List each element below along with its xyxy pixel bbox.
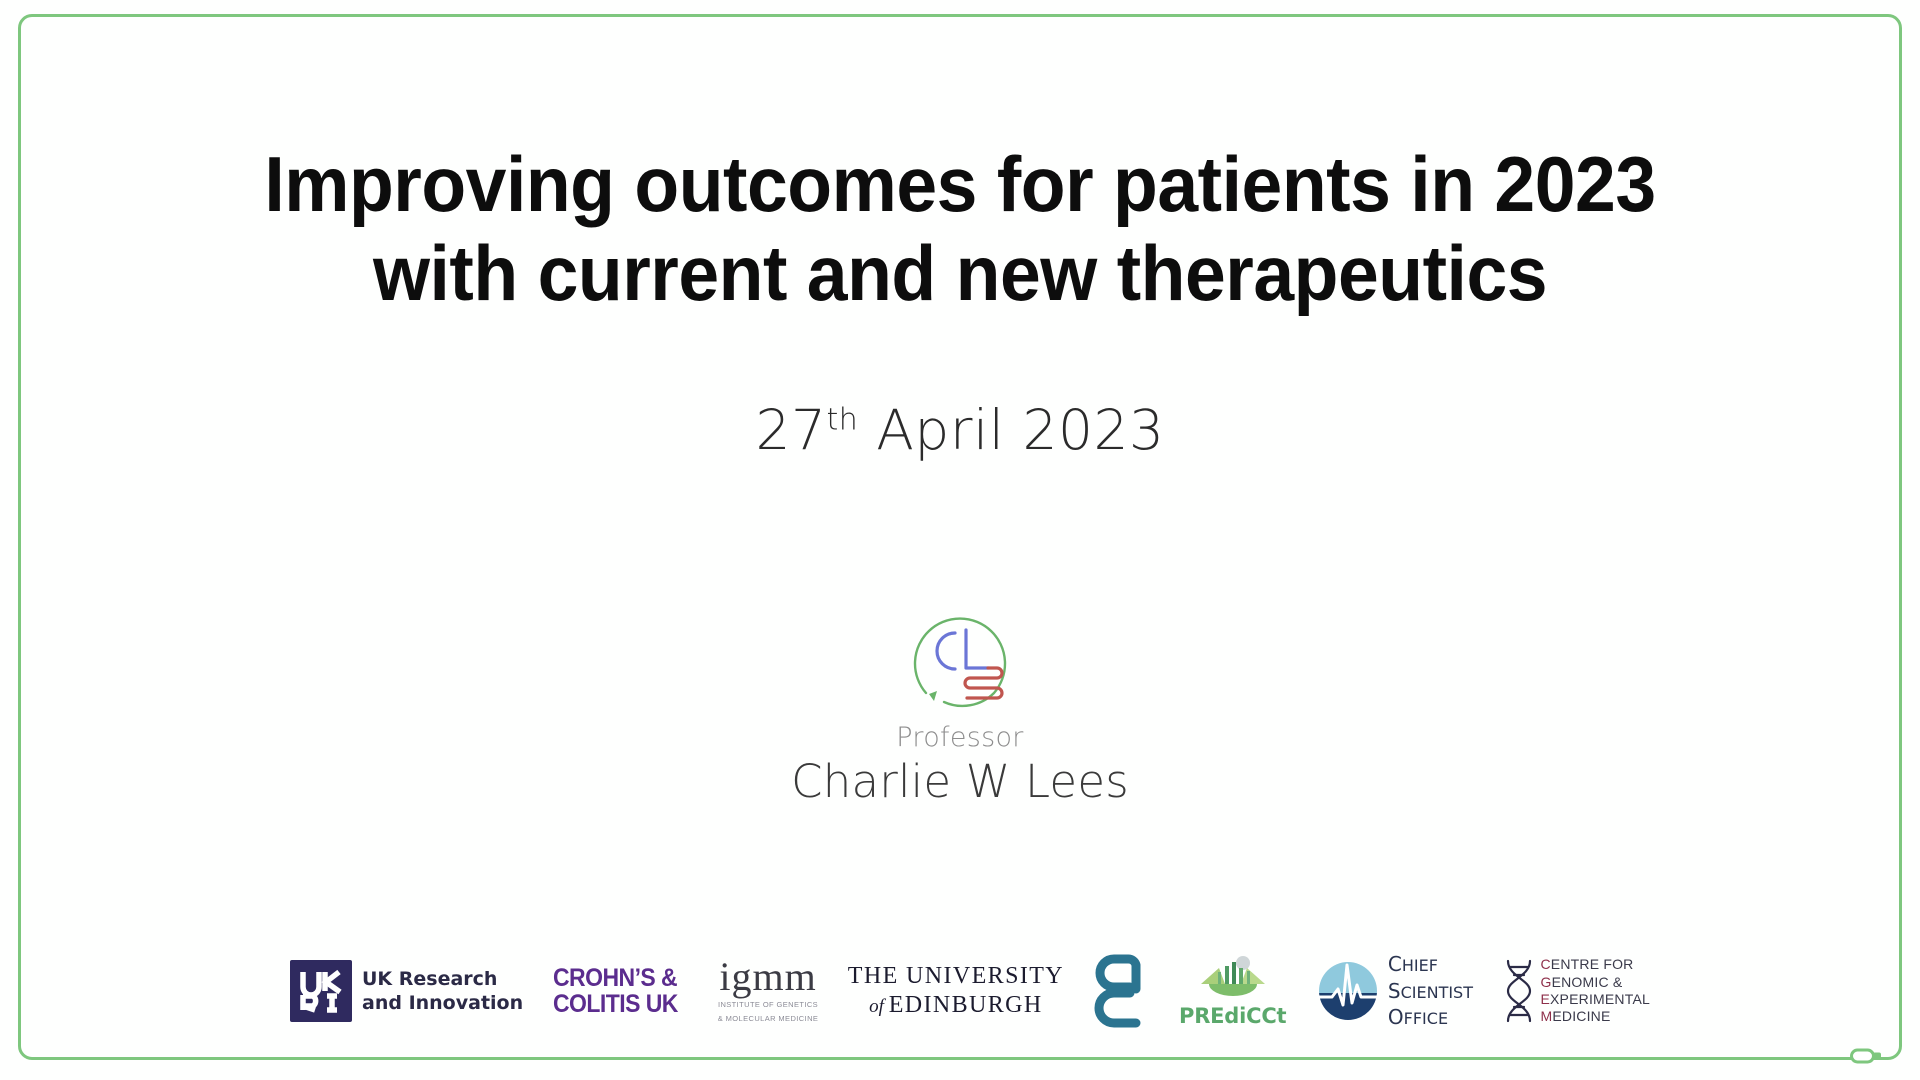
date-ordinal-suffix: th [827, 403, 859, 438]
pill-capsule-icon [1850, 1046, 1884, 1066]
slide-date: 27th April 2023 [0, 398, 1920, 462]
ukri-mark-icon [290, 960, 352, 1022]
presenter-block: Professor Charlie W Lees [0, 590, 1920, 808]
uoe-line-1: THE UNIVERSITY [848, 962, 1064, 991]
igmm-subtitle-1: INSTITUTE OF GENETICS [718, 1000, 819, 1010]
cso-line-1-cap: C [1388, 952, 1402, 976]
logo-crohns-colitis-uk: CROHN’S & COLITIS UK [553, 945, 689, 1037]
igmm-subtitle-2: & MOLECULAR MEDICINE [718, 1014, 819, 1024]
ccuk-wordmark: CROHN’S & COLITIS UK [553, 965, 678, 1017]
cgem-line-4: EDICINE [1552, 1008, 1610, 1024]
logo-teal-e-mark [1094, 945, 1150, 1037]
slide-title: Improving outcomes for patients in 2023 … [0, 140, 1920, 318]
cgem-line-3-init: E [1540, 991, 1550, 1007]
logo-predicct: PREdiCCt [1179, 945, 1286, 1037]
cgem-line-1: ENTRE FOR [1551, 956, 1634, 972]
ccuk-line-2: COLITIS UK [553, 991, 678, 1017]
cgem-line-2: ENOMIC & [1552, 974, 1623, 990]
title-line-1: Improving outcomes for patients in 2023 [58, 140, 1863, 229]
cgem-wordmark: CENTRE FOR GENOMIC & EXPERIMENTAL MEDICI… [1540, 956, 1650, 1025]
predicct-wordmark: PREdiCCt [1179, 1004, 1286, 1028]
cso-line-3-cap: O [1388, 1005, 1404, 1029]
cso-line-1: HIEF [1402, 956, 1438, 975]
cgem-line-4-init: M [1540, 1008, 1552, 1024]
logo-cgem: CENTRE FOR GENOMIC & EXPERIMENTAL MEDICI… [1502, 945, 1650, 1037]
affiliation-logo-strip: UK Research and Innovation CROHN’S & COL… [290, 945, 1650, 1037]
title-line-2: with current and new therapeutics [58, 229, 1863, 318]
teal-e-icon [1094, 953, 1150, 1029]
cso-circle-ecg-icon [1316, 959, 1380, 1023]
igmm-wordmark: igmm [718, 958, 819, 996]
uoe-line-2: EDINBURGH [889, 992, 1043, 1018]
logo-chief-scientist-office: CHIEF SCIENTIST OFFICE [1316, 945, 1473, 1037]
ukri-wordmark: UK Research and Innovation [362, 967, 523, 1016]
date-day: 27 [756, 398, 827, 462]
presenter-name: Charlie W Lees [0, 755, 1920, 808]
presenter-role: Professor [0, 722, 1920, 753]
cgem-line-2-init: G [1540, 974, 1551, 990]
presentation-slide: Improving outcomes for patients in 2023 … [0, 0, 1920, 1080]
charlie-lees-monogram-logo [896, 590, 1024, 718]
cso-line-3: FFICE [1404, 1009, 1448, 1028]
uoe-of: of [869, 996, 889, 1017]
cso-line-2: CIENTIST [1401, 983, 1473, 1002]
logo-university-of-edinburgh: THE UNIVERSITY of EDINBURGH [848, 945, 1064, 1037]
date-month-year: April 2023 [858, 398, 1164, 462]
ccuk-line-1: CROHN’S & [553, 965, 678, 991]
logo-ukri: UK Research and Innovation [290, 945, 523, 1037]
ukri-line-1: UK Research [362, 967, 523, 991]
cso-line-2-cap: S [1388, 979, 1401, 1003]
cgem-line-1-init: C [1540, 956, 1550, 972]
dna-helix-icon [1502, 958, 1536, 1024]
predicct-landscape-icon [1195, 954, 1271, 998]
cgem-line-3: XPERIMENTAL [1550, 991, 1650, 1007]
logo-igmm: igmm INSTITUTE OF GENETICS & MOLECULAR M… [718, 945, 819, 1037]
cso-wordmark: CHIEF SCIENTIST OFFICE [1388, 951, 1473, 1030]
ukri-line-2: and Innovation [362, 991, 523, 1015]
